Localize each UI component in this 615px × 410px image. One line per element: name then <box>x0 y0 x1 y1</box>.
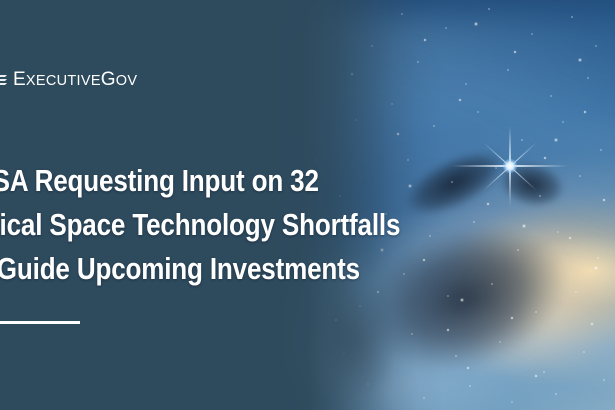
flag-stripes-icon <box>0 72 8 90</box>
page-title: ASA Requesting Input on 32 ritical Space… <box>0 159 369 291</box>
headline-line-2: ritical Space Technology Shortfalls <box>0 203 369 247</box>
headline-line-3: o Guide Upcoming Investments <box>0 247 369 291</box>
executivegov-logo[interactable]: EXECUTIVEGOV <box>0 70 137 91</box>
headline-line-1: ASA Requesting Input on 32 <box>0 159 369 203</box>
brand-name-ov: OV <box>116 73 138 89</box>
brand-name: EXECUTIVEGOV <box>13 70 137 91</box>
article-hero-banner: EXECUTIVEGOV ASA Requesting Input on 32 … <box>0 0 615 410</box>
brand-name-xecutive: XECUTIVE <box>26 73 101 89</box>
banner-content: EXECUTIVEGOV ASA Requesting Input on 32 … <box>0 0 615 410</box>
brand-name-e: E <box>13 69 26 90</box>
brand-name-g: G <box>101 69 116 90</box>
title-divider-rule <box>0 321 80 324</box>
